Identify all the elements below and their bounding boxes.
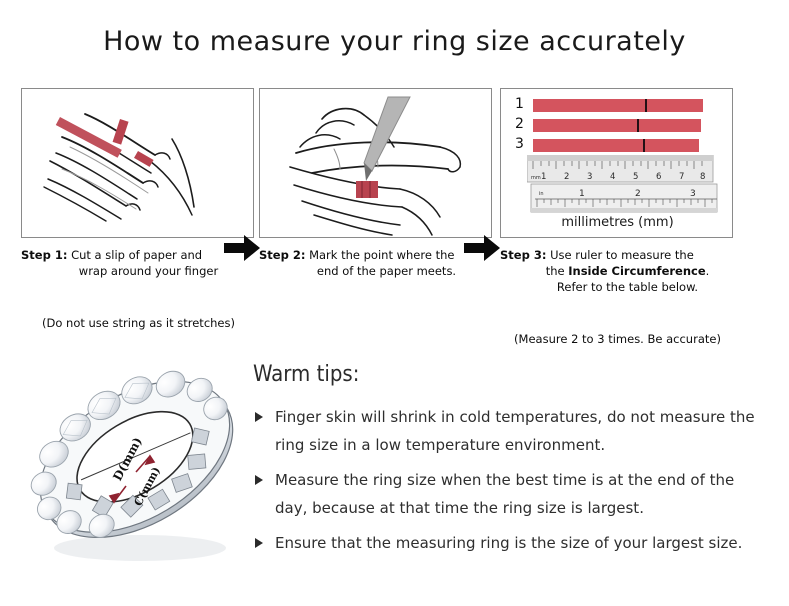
step-1-line2: wrap around your finger [21, 263, 256, 279]
arrow-step1-to-step2 [222, 231, 262, 265]
ruler-inch-tick-label: 2 [635, 189, 641, 199]
ruler-cm-tick-label: 4 [610, 172, 615, 182]
strip-mark-tick [645, 99, 647, 112]
warm-tips-heading: Warm tips: [253, 362, 763, 387]
ruler-cm-tick-label: 8 [700, 172, 705, 182]
strip-bar [533, 119, 701, 132]
step-3-line1: Use ruler to measure the [546, 248, 693, 262]
ruler-inch-tick-label: 3 [690, 189, 696, 199]
hand-with-paper-strip-illustration [22, 89, 254, 238]
ruler-cm-tick-label: 2 [564, 172, 569, 182]
tip-list-item: Finger skin will shrink in cold temperat… [253, 403, 763, 459]
hand-marking-paper-with-pen-illustration [260, 89, 492, 238]
strip-number: 3 [515, 136, 529, 152]
ruler-cm-tick-label: 6 [656, 172, 661, 182]
step-1-lead: Step 1: [21, 248, 67, 262]
step-3-lead: Step 3: [500, 248, 546, 262]
ruler-cm-tick-label: 7 [679, 172, 684, 182]
ruler-cm-tick-label: 1 [541, 172, 546, 182]
warm-tips-section: Warm tips: Finger skin will shrink in co… [253, 362, 763, 564]
strip-bar [533, 99, 703, 112]
step-3-column: 1 2 3 [500, 88, 735, 295]
measured-strip-row: 2 [515, 119, 722, 132]
measured-strip-row: 3 [515, 139, 722, 152]
step-3-caption: Step 3: Use ruler to measure the the Ins… [500, 247, 735, 295]
steps-row: Step 1: Cut a slip of paper and wrap aro… [0, 88, 789, 338]
step-2-column: Step 2: Mark the point where the end of … [259, 88, 494, 279]
tip-text: Measure the ring size when the best time… [275, 471, 734, 517]
step-3-panel: 1 2 3 [500, 88, 733, 238]
step-1-note: (Do not use string as it stretches) [21, 316, 256, 330]
strip-bar [533, 139, 699, 152]
ruler-inch-tick-label: 1 [579, 189, 585, 199]
step-3-line3: Refer to the table below. [500, 279, 735, 295]
measured-strip-row: 1 [515, 99, 722, 112]
strip-number: 1 [515, 96, 529, 112]
tip-text: Finger skin will shrink in cold temperat… [275, 408, 755, 454]
step-1-panel [21, 88, 254, 238]
ruler-cm-tick-label: 3 [587, 172, 592, 182]
strip-mark-tick [637, 119, 639, 132]
strip-mark-tick [643, 139, 645, 152]
page-title: How to measure your ring size accurately [0, 26, 789, 57]
step-1-caption: Step 1: Cut a slip of paper and wrap aro… [21, 247, 256, 279]
triangle-bullet-icon [255, 475, 263, 485]
ruler-unit-caption: millimetres (mm) [501, 215, 733, 230]
svg-text:mm: mm [531, 175, 541, 181]
ruler-cm-tick-label: 5 [633, 172, 638, 182]
step-2-lead: Step 2: [259, 248, 305, 262]
eternity-ring-illustration [18, 352, 258, 577]
svg-text:in: in [539, 191, 544, 197]
step-1-line1: Cut a slip of paper and [67, 248, 202, 262]
step-2-panel [259, 88, 492, 238]
strip-number: 2 [515, 116, 529, 132]
step-2-caption: Step 2: Mark the point where the end of … [259, 247, 494, 279]
step-1-column: Step 1: Cut a slip of paper and wrap aro… [21, 88, 256, 279]
step-2-line2: end of the paper meets. [259, 263, 494, 279]
tip-text: Ensure that the measuring ring is the si… [275, 534, 742, 552]
tip-list-item: Measure the ring size when the best time… [253, 466, 763, 522]
ring-diagram: D(mm) C(mm) [18, 352, 258, 577]
inside-circumference-emphasis: Inside Circumference [568, 264, 705, 278]
step-2-line1: Mark the point where the [305, 248, 454, 262]
step-3-line2-tail: . [706, 264, 710, 278]
tip-list-item: Ensure that the measuring ring is the si… [253, 529, 763, 557]
ruler-graphic: mm 1 2 3 4 5 6 7 8 in 1 2 3 [527, 155, 733, 217]
arrow-step2-to-step3 [462, 231, 502, 265]
triangle-bullet-icon [255, 412, 263, 422]
step-3-note: (Measure 2 to 3 times. Be accurate) [500, 332, 735, 346]
triangle-bullet-icon [255, 538, 263, 548]
step-3-line2: the [546, 264, 569, 278]
